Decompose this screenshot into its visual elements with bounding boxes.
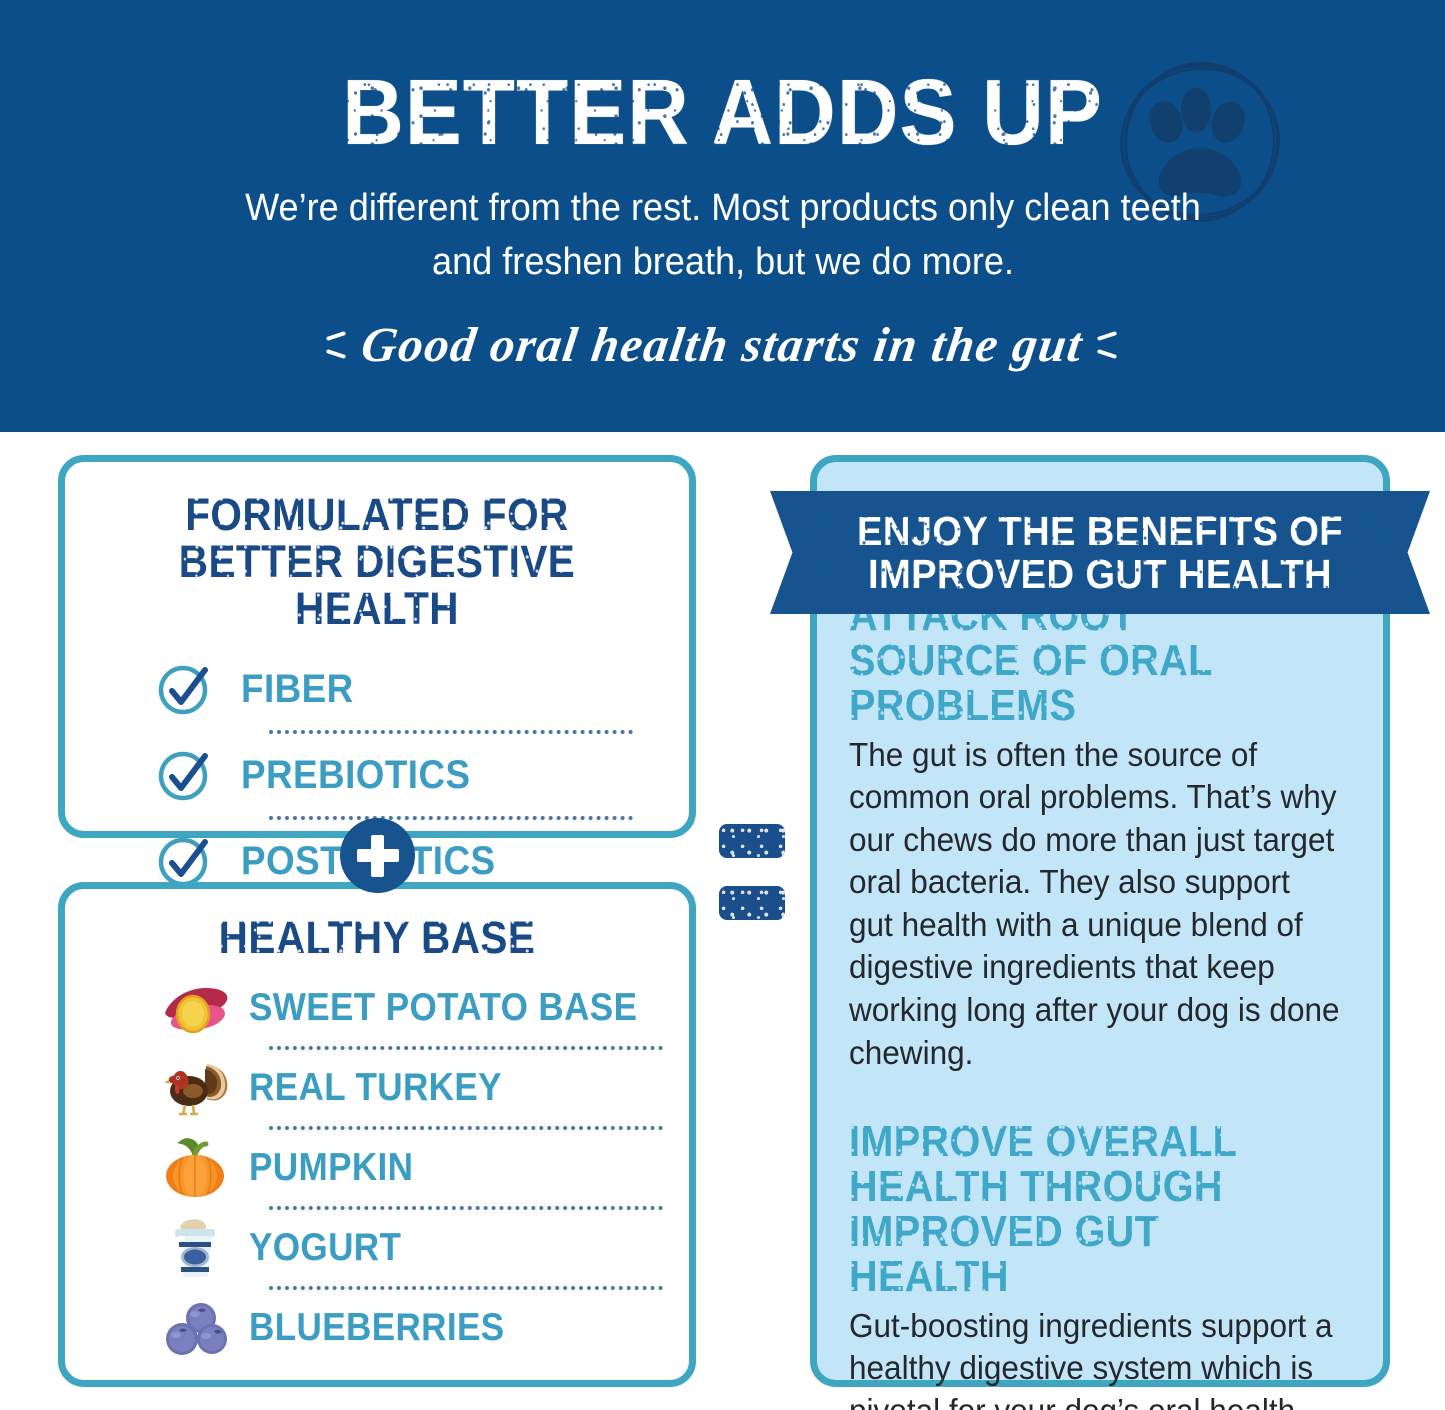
divider	[269, 1206, 663, 1210]
infographic-page: BETTER ADDS UP We’re different from the …	[0, 0, 1445, 1410]
divider	[269, 730, 633, 734]
list-item: FIBER	[99, 648, 655, 730]
list-item: PUMPKIN	[99, 1130, 667, 1206]
formulated-card: FORMULATED FOR BETTER DIGESTIVE HEALTH F…	[58, 455, 696, 838]
check-circle-icon	[155, 659, 215, 719]
header-script-line: Good oral health starts in the gut	[326, 316, 1119, 373]
flourish-left-icon	[326, 328, 348, 362]
benefit-body: The gut is often the source of common or…	[849, 734, 1341, 1075]
divider	[269, 1286, 663, 1290]
sweet-potato-icon	[157, 975, 233, 1041]
list-item: YOGURT	[99, 1210, 667, 1286]
divider	[269, 1126, 663, 1130]
list-item: REAL TURKEY	[99, 1050, 667, 1126]
list-item-label: FIBER	[241, 667, 354, 712]
page-title: BETTER ADDS UP	[342, 68, 1103, 156]
equals-sign-icon	[719, 824, 785, 920]
divider	[269, 816, 633, 820]
list-item-label: YOGURT	[249, 1226, 401, 1270]
benefits-ribbon-title: ENJOY THE BENEFITS OF IMPROVED GUT HEALT…	[793, 510, 1407, 595]
list-item: SWEET POTATO BASE	[99, 970, 667, 1046]
divider	[269, 1046, 663, 1050]
healthy-base-card: HEALTHY BASE SWEET POTATO BASE	[58, 882, 696, 1387]
list-item-label: PREBIOTICS	[241, 753, 471, 798]
benefits-ribbon: ENJOY THE BENEFITS OF IMPROVED GUT HEALT…	[770, 491, 1430, 614]
list-item: BLUEBERRIES	[99, 1290, 667, 1366]
list-item-label: SWEET POTATO BASE	[249, 986, 637, 1030]
benefit-heading: IMPROVE OVERALL HEALTH THROUGH IMPROVED …	[849, 1120, 1313, 1300]
blueberries-icon	[157, 1295, 233, 1361]
list-item-label: PUMPKIN	[249, 1146, 413, 1190]
check-circle-icon	[155, 745, 215, 805]
script-text: Good oral health starts in the gut	[358, 316, 1087, 373]
plus-icon	[340, 818, 415, 893]
flourish-right-icon	[1097, 328, 1119, 362]
healthy-base-heading: HEALTHY BASE	[120, 915, 635, 962]
pumpkin-icon	[157, 1135, 233, 1201]
content-area: FORMULATED FOR BETTER DIGESTIVE HEALTH F…	[0, 432, 1445, 1410]
benefit-heading: ATTACK ROOT SOURCE OF ORAL PROBLEMS	[849, 594, 1313, 729]
benefits-content: ATTACK ROOT SOURCE OF ORAL PROBLEMS The …	[849, 594, 1364, 1410]
list-item-label: REAL TURKEY	[249, 1066, 502, 1110]
list-item-label: BLUEBERRIES	[249, 1306, 505, 1350]
list-item: PREBIOTICS	[99, 734, 655, 816]
header-banner: BETTER ADDS UP We’re different from the …	[0, 0, 1445, 432]
formulated-heading: FORMULATED FOR BETTER DIGESTIVE HEALTH	[120, 492, 635, 632]
healthy-base-list: SWEET POTATO BASE	[65, 970, 689, 1366]
yogurt-cup-icon	[157, 1215, 233, 1281]
benefit-body: Gut-boosting ingredients support a healt…	[849, 1305, 1341, 1410]
turkey-icon	[157, 1055, 233, 1121]
header-subtitle: We’re different from the rest. Most prod…	[219, 182, 1226, 290]
